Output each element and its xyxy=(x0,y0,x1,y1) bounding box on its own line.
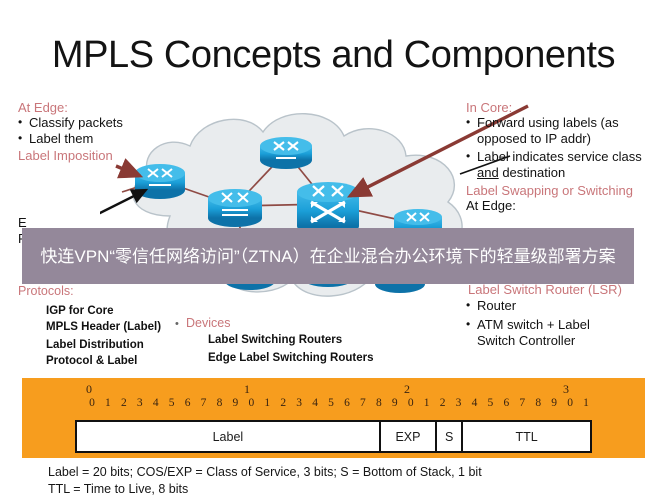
bit-digit-7: 7 xyxy=(196,397,212,412)
bit-digit-21: 1 xyxy=(419,397,435,412)
bit-digit-2: 2 xyxy=(116,397,132,412)
bit-digit-0: 0 xyxy=(84,397,100,412)
right-panel-header: In Core: xyxy=(466,100,662,115)
device-item-lsr: Label Switching Routers xyxy=(208,332,438,348)
left-bullet-label-them: Label them xyxy=(18,131,193,147)
bit-digit-13: 3 xyxy=(291,397,307,412)
bit-diagram-caption: Label = 20 bits; COS/EXP = Class of Serv… xyxy=(48,464,648,498)
overlay-promo-banner[interactable]: 快连VPN“零信任网络访问”（ZTNA）在企业混合办公环境下的轻量级部署方案 xyxy=(22,228,634,284)
bit-digit-22: 2 xyxy=(435,397,451,412)
protocol-item-ldp-1: Label Distribution xyxy=(46,337,226,353)
bit-digit-16: 6 xyxy=(339,397,355,412)
caption-line-2: TTL = Time to Live, 8 bits xyxy=(48,481,648,498)
devices-list: Label Switching Routers Edge Label Switc… xyxy=(208,332,438,366)
bit-digit-29: 9 xyxy=(546,397,562,412)
devices-bullet-dot: • xyxy=(175,318,179,330)
left-panel-header: At Edge: xyxy=(18,100,193,115)
bit-digit-24: 4 xyxy=(467,397,483,412)
bit-digit-17: 7 xyxy=(355,397,371,412)
bit-digit-26: 6 xyxy=(498,397,514,412)
caption-line-1: Label = 20 bits; COS/EXP = Class of Serv… xyxy=(48,464,648,481)
bit-digit-12: 2 xyxy=(275,397,291,412)
bit-digit-27: 7 xyxy=(514,397,530,412)
right-bullet-destination: destination xyxy=(499,165,566,180)
left-bullet-classify: Classify packets xyxy=(18,115,193,131)
bit-digit-15: 5 xyxy=(323,397,339,412)
right-bullet-service-class-text: Label indicates service class xyxy=(477,149,642,164)
right-bullet-service-class: Label indicates service class and destin… xyxy=(466,149,662,181)
bit-digit-25: 5 xyxy=(482,397,498,412)
mpls-label-format-panel: 0 1 2 3 01234567890123456789012345678901… xyxy=(22,378,645,458)
bit-digit-23: 3 xyxy=(451,397,467,412)
router-node xyxy=(208,189,262,227)
lsr-bullet-atm-line2: Switch Controller xyxy=(477,333,575,348)
bit-digit-20: 0 xyxy=(403,397,419,412)
bit-index-ruler: 01234567890123456789012345678901 xyxy=(84,397,594,412)
decade-label-3: 3 xyxy=(563,382,569,397)
bit-digit-5: 5 xyxy=(164,397,180,412)
bit-digit-10: 0 xyxy=(243,397,259,412)
protocols-list: IGP for Core MPLS Header (Label) Label D… xyxy=(46,303,226,369)
devices-header: Devices xyxy=(186,316,230,331)
lsr-bullet-atm-switch: ATM switch + Label Switch Controller xyxy=(466,317,666,349)
right-subnote-label-swapping: Label Swapping or Switching xyxy=(466,183,662,198)
decade-label-0: 0 xyxy=(86,382,92,397)
bit-digit-19: 9 xyxy=(387,397,403,412)
lsr-header: Label Switch Router (LSR) xyxy=(468,282,667,297)
bit-digit-6: 6 xyxy=(180,397,196,412)
protocols-header: Protocols: xyxy=(18,284,218,299)
bit-digit-11: 1 xyxy=(259,397,275,412)
protocol-item-ldp-2: Protocol & Label xyxy=(46,353,226,369)
field-label: Label xyxy=(77,422,381,451)
lsr-bullet-router: Router xyxy=(466,298,666,314)
left-subnote-label-imposition: Label Imposition xyxy=(18,148,193,163)
slide-canvas: MPLS Concepts and Components xyxy=(0,0,667,500)
lsr-list: Router ATM switch + Label Switch Control… xyxy=(466,298,666,349)
right-panel-in-core: In Core: Forward using labels (as oppose… xyxy=(466,100,662,214)
bit-digit-4: 4 xyxy=(148,397,164,412)
field-s: S xyxy=(437,422,463,451)
mpls-header-field-box: Label EXP S TTL xyxy=(75,420,592,453)
bit-digit-8: 8 xyxy=(212,397,228,412)
page-title: MPLS Concepts and Components xyxy=(0,34,667,77)
bit-digit-3: 3 xyxy=(132,397,148,412)
bit-digit-14: 4 xyxy=(307,397,323,412)
router-node xyxy=(135,164,185,199)
bit-digit-9: 9 xyxy=(227,397,243,412)
right-bullet-forward: Forward using labels (as opposed to IP a… xyxy=(466,115,662,147)
bit-digit-28: 8 xyxy=(530,397,546,412)
field-ttl: TTL xyxy=(463,422,590,451)
overlay-promo-text: 快连VPN“零信任网络访问”（ZTNA）在企业混合办公环境下的轻量级部署方案 xyxy=(30,243,626,270)
field-exp: EXP xyxy=(381,422,437,451)
device-item-elsr: Edge Label Switching Routers xyxy=(208,350,438,366)
bit-digit-1: 1 xyxy=(100,397,116,412)
right-bullet-and-underlined: and xyxy=(477,165,499,180)
right-footer-at-edge: At Edge: xyxy=(466,198,662,214)
router-node xyxy=(260,137,312,169)
lsr-bullet-atm-line1: ATM switch + Label xyxy=(477,317,590,332)
bit-digit-18: 8 xyxy=(371,397,387,412)
decade-label-1: 1 xyxy=(244,382,250,397)
bit-digit-30: 0 xyxy=(562,397,578,412)
bit-digit-31: 1 xyxy=(578,397,594,412)
decade-label-2: 2 xyxy=(404,382,410,397)
left-panel-at-edge: At Edge: Classify packets Label them Lab… xyxy=(18,100,193,163)
